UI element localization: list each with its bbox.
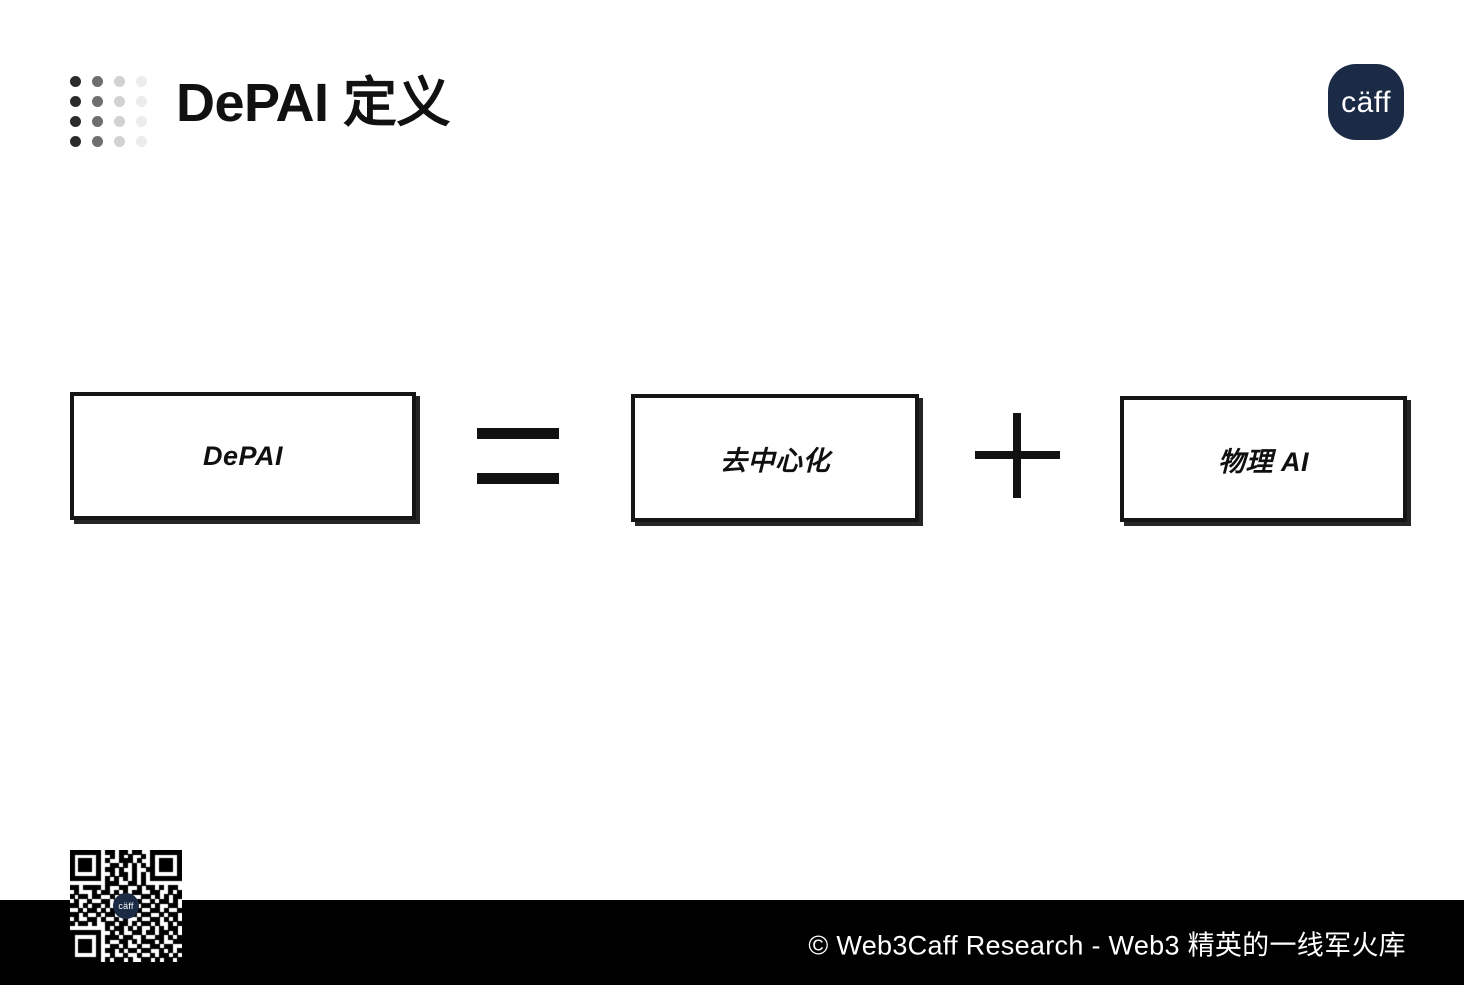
dot-grid-cell [92,76,103,87]
equals-operator [477,428,559,484]
dot-grid-cell [114,96,125,107]
qr-code[interactable]: cäff [70,850,182,962]
slide-header: DePAI 定义 cäff [0,0,1464,190]
equation-box-depai: DePAI [70,392,416,520]
dot-grid-cell [136,76,147,87]
dot-grid-cell [92,96,103,107]
dot-grid-cell [136,96,147,107]
footer-bar: © Web3Caff Research - Web3 精英的一线军火库 [0,900,1464,985]
slide-root: DePAI 定义 cäff DePAI 去中心化 物理 AI © Web3Caf… [0,0,1464,985]
equation-box-physical-ai-label: 物理 AI [1218,440,1309,479]
dot-grid-cell [70,96,81,107]
equation-box-decentralization: 去中心化 [631,394,919,522]
equals-bar-top [477,428,559,439]
dot-grid-cell [70,116,81,127]
dot-grid-icon [70,76,148,148]
dot-grid-cell [70,76,81,87]
dot-grid-cell [114,136,125,147]
plus-operator [975,413,1060,498]
dot-grid-cell [136,136,147,147]
equation-box-depai-label: DePAI [203,441,283,472]
brand-logo-text: cäff [1341,88,1391,118]
dot-grid-cell [70,136,81,147]
dot-grid-cell [114,76,125,87]
page-title: DePAI 定义 [176,72,450,134]
equals-bar-bottom [477,473,559,484]
equation-box-physical-ai: 物理 AI [1120,396,1407,522]
dot-grid-cell [136,116,147,127]
plus-bar-vertical [1013,413,1021,498]
footer-copyright: © Web3Caff Research - Web3 精英的一线军火库 [808,923,1406,962]
equation-box-decentralization-label: 去中心化 [720,439,830,478]
dot-grid-cell [114,116,125,127]
qr-center-logo: cäff [113,893,139,919]
dot-grid-cell [92,136,103,147]
dot-grid-cell [92,116,103,127]
brand-logo-badge: cäff [1328,64,1404,140]
